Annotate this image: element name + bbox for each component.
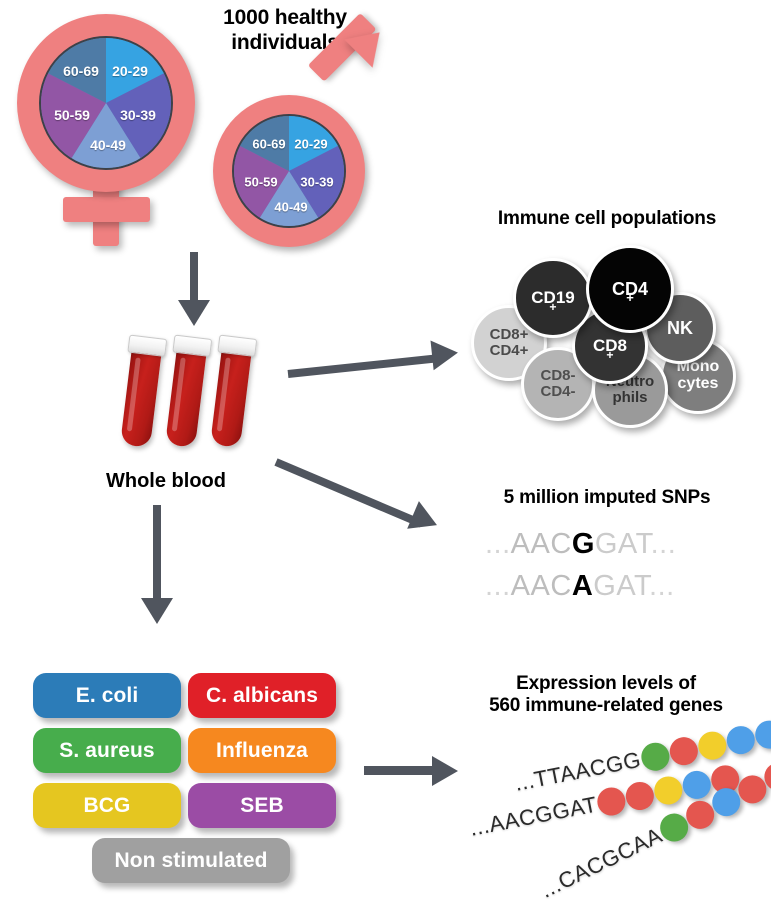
immune-cell-label: NK xyxy=(667,319,693,338)
section-title-genes: Expression levels of 560 immune-related … xyxy=(448,673,764,718)
snp-prefix: AAC xyxy=(511,528,572,560)
immune-cell-cd4-positive: CD4+ xyxy=(586,245,674,333)
blood-tube xyxy=(210,347,252,448)
stimulus-seb[interactable]: SEB xyxy=(188,783,336,828)
stimulus-non-stimulated[interactable]: Non stimulated xyxy=(92,838,290,883)
genes-title-line-2: 560 immune-related genes xyxy=(448,695,764,717)
snp-variant-allele: A xyxy=(572,570,593,602)
gene-bead xyxy=(624,780,657,813)
gene-bead xyxy=(639,740,672,773)
immune-cell-label: CD19+ xyxy=(531,289,574,307)
gene-bead xyxy=(724,724,757,757)
gene-bead xyxy=(595,785,628,818)
immune-cell-label: phils xyxy=(612,390,647,406)
female-age-pie-chart: 20-29 30-39 40-49 50-59 60-69 xyxy=(39,36,173,170)
snp-sequence-row: ...AACAGAT... xyxy=(485,570,675,603)
immune-cell-label: cytes xyxy=(678,376,719,393)
snp-sequence-row: ...AACGGAT... xyxy=(485,528,676,561)
snp-suffix: GAT xyxy=(593,570,649,602)
diagram-canvas: 1000 healthy individuals 20-29 30-39 40-… xyxy=(0,0,771,922)
stimulus-label: S. aureus xyxy=(59,739,154,763)
male-age-pie-chart: 20-29 30-39 40-49 50-59 60-69 xyxy=(232,114,346,228)
section-title-snps: 5 million imputed SNPs xyxy=(452,487,762,509)
stimulus-label: SEB xyxy=(240,794,283,818)
snp-trailing-dots: ... xyxy=(649,570,675,602)
blood-tube-body xyxy=(210,347,252,448)
stimulus-label: Influenza xyxy=(216,739,308,763)
blood-tube-body xyxy=(120,347,162,448)
gene-bead xyxy=(696,729,729,762)
immune-cell-cd19-positive: CD19+ xyxy=(513,258,593,338)
gene-sequence-text: ...CACGCAA xyxy=(536,822,666,903)
female-sign-cross xyxy=(63,197,150,222)
genes-title-line-1: Expression levels of xyxy=(448,673,764,695)
gene-bead xyxy=(652,774,685,807)
snp-trailing-dots: ... xyxy=(651,528,677,560)
immune-cell-label: CD4+ xyxy=(490,343,529,359)
immune-cell-label: CD4+ xyxy=(612,280,648,299)
snp-leading-dots: ... xyxy=(485,528,511,560)
blood-tube xyxy=(165,347,207,448)
section-title-immune: Immune cell populations xyxy=(452,208,762,230)
label-whole-blood: Whole blood xyxy=(86,470,246,493)
immune-cell-label: CD8+ xyxy=(593,337,627,355)
stimulus-bcg[interactable]: BCG xyxy=(33,783,181,828)
stimulus-label: Non stimulated xyxy=(114,849,267,873)
snp-leading-dots: ... xyxy=(485,570,511,602)
gene-bead xyxy=(753,718,771,751)
stimulus-label: E. coli xyxy=(76,684,139,708)
immune-cell-label: CD8- xyxy=(540,368,575,384)
gene-bead xyxy=(667,735,700,768)
stimulus-influenza[interactable]: Influenza xyxy=(188,728,336,773)
stimulus-label: BCG xyxy=(84,794,131,818)
stimulus-e-coli[interactable]: E. coli xyxy=(33,673,181,718)
snp-suffix: GAT xyxy=(595,528,651,560)
blood-tube-body xyxy=(165,347,207,448)
snp-prefix: AAC xyxy=(511,570,572,602)
stimulus-label: C. albicans xyxy=(206,684,318,708)
stimulus-s-aureus[interactable]: S. aureus xyxy=(33,728,181,773)
immune-cell-label: CD4- xyxy=(540,384,575,400)
snp-variant-allele: G xyxy=(572,528,595,560)
blood-tube xyxy=(120,347,162,448)
gene-sequence-text: ...AACGGAT xyxy=(468,792,600,842)
stimulus-c-albicans[interactable]: C. albicans xyxy=(188,673,336,718)
immune-cell-label: CD8+ xyxy=(490,327,529,343)
